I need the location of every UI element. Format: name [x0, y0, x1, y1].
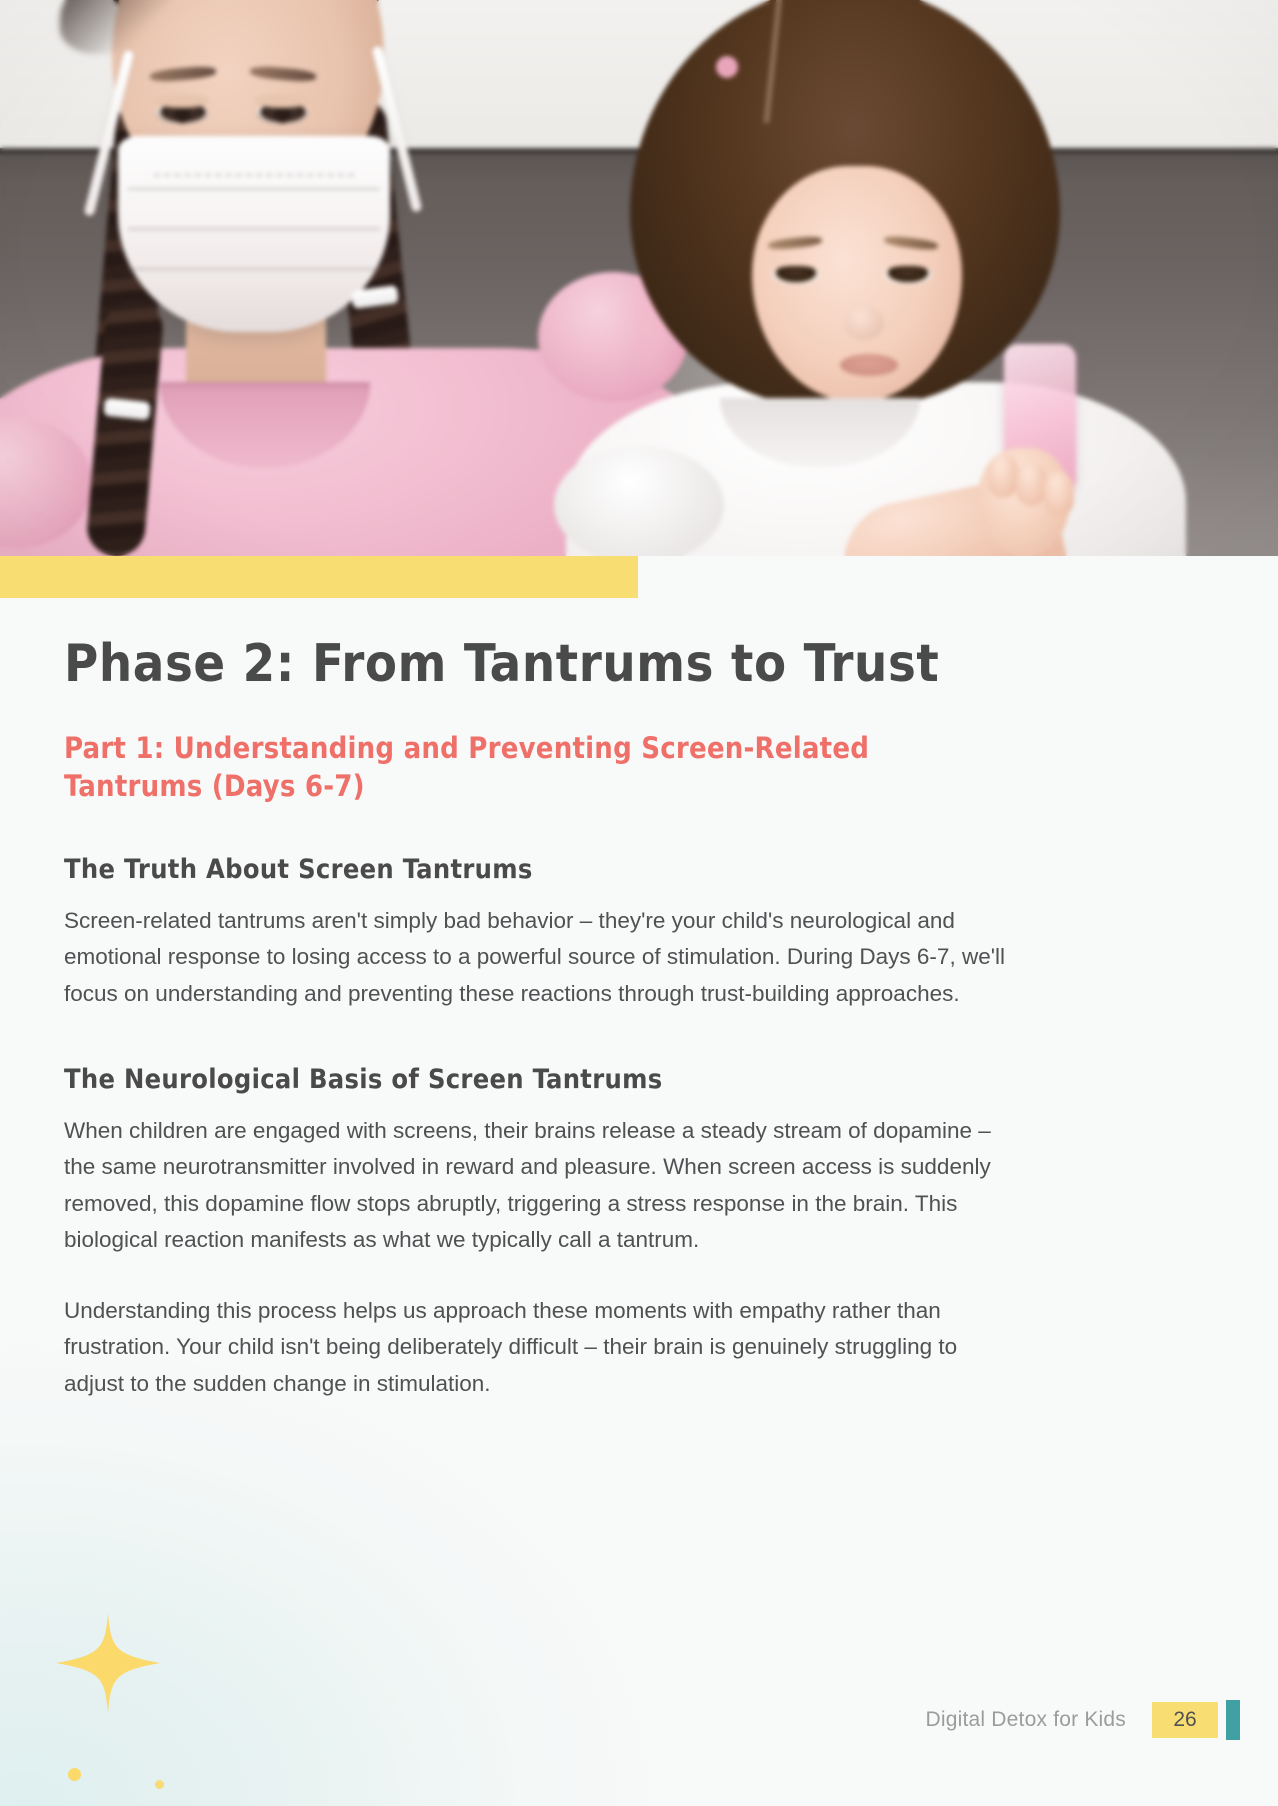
section-paragraph: Screen-related tantrums aren't simply ba… — [64, 903, 1016, 1012]
page-title: Phase 2: From Tantrums to Trust — [64, 636, 1024, 693]
page-number-badge: 26 — [1152, 1702, 1218, 1738]
dot-icon — [68, 1768, 81, 1781]
section-paragraph: When children are engaged with screens, … — [64, 1113, 1016, 1259]
page-root: Phase 2: From Tantrums to Trust Part 1: … — [0, 0, 1278, 1806]
section-heading: The Neurological Basis of Screen Tantrum… — [64, 1064, 1024, 1095]
part-subtitle: Part 1: Understanding and Preventing Scr… — [64, 729, 944, 806]
four-point-star-icon — [56, 1613, 160, 1713]
photo-vignette — [0, 0, 1278, 556]
teal-accent-bar — [1226, 1700, 1240, 1740]
section-truth-about-screen-tantrums: The Truth About Screen Tantrums Screen-r… — [64, 854, 1024, 1012]
brand-label: Digital Detox for Kids — [926, 1708, 1126, 1732]
section-neurological-basis: The Neurological Basis of Screen Tantrum… — [64, 1064, 1024, 1402]
page-footer: Digital Detox for Kids 26 — [0, 1700, 1278, 1740]
section-heading: The Truth About Screen Tantrums — [64, 854, 1024, 885]
hero-photo — [0, 0, 1278, 556]
dot-icon — [155, 1780, 164, 1789]
yellow-accent-bar — [0, 556, 638, 598]
main-content: Phase 2: From Tantrums to Trust Part 1: … — [64, 636, 1024, 1402]
section-paragraph: Understanding this process helps us appr… — [64, 1293, 1016, 1402]
